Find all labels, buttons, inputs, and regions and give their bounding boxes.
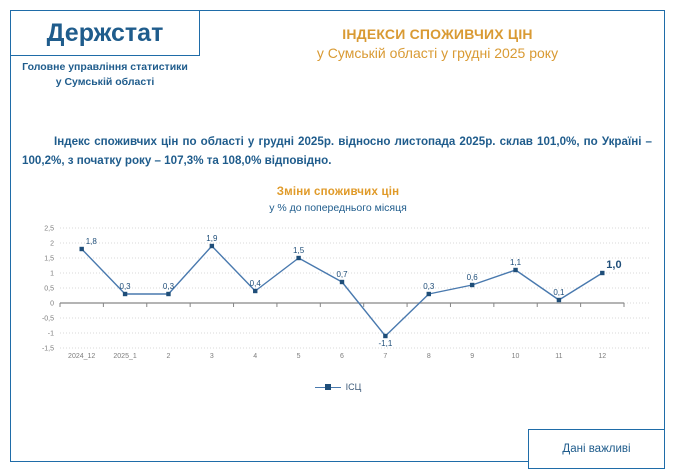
organisation-name-line2: у Сумській області [8,75,202,90]
x-axis-tick-label: 2024_12 [68,353,95,360]
footer-badge[interactable]: Дані важливі [528,429,665,469]
y-axis-tick-label: 2,5 [44,226,54,233]
x-axis-tick-label: 12 [598,353,606,360]
series-line [82,246,603,336]
y-axis-tick-label: -0,5 [42,316,54,323]
y-axis-tick-label: -1,5 [42,346,54,353]
organisation-logo: Держстат [10,10,200,56]
data-point-marker [600,271,604,275]
legend-marker-icon [315,383,341,392]
x-axis-tick-label: 10 [512,353,520,360]
x-axis-tick-label: 8 [427,353,431,360]
chart-plot-area: 2,521,510,50-0,5-1-1,52024_122025_123456… [14,216,662,376]
page-title-sub: у Сумській області у грудні 2025 року [210,45,665,61]
data-point-label: 0,3 [163,282,175,291]
data-point-label: 0,3 [423,282,435,291]
data-point-marker [166,292,170,296]
data-point-marker [253,289,257,293]
data-point-marker [296,256,300,260]
intro-paragraph: Індекс споживчих цін по області у грудні… [22,132,652,170]
data-point-label: 1,0 [606,259,621,271]
data-point-marker [513,268,517,272]
x-axis-tick-label: 2025_1 [113,353,136,360]
x-axis-tick-label: 6 [340,353,344,360]
legend-label: ІСЦ [346,382,362,392]
x-axis-tick-label: 2 [167,353,171,360]
data-point-label: 0,6 [467,273,479,282]
data-point-label: 0,1 [553,288,565,297]
chart-block: Зміни споживчих цін у % до попереднього … [14,186,662,411]
data-point-marker [340,280,344,284]
organisation-name: Головне управління статистики у Сумській… [8,60,202,90]
y-axis-tick-label: 2 [50,241,54,248]
x-axis-tick-label: 7 [383,353,387,360]
y-axis-tick-label: 1,5 [44,256,54,263]
x-axis-tick-label: 9 [470,353,474,360]
data-point-marker [123,292,127,296]
chart-legend[interactable]: ІСЦ [14,382,662,392]
y-axis-tick-label: 0 [50,301,54,308]
page-title: ІНДЕКСИ СПОЖИВЧИХ ЦІН у Сумській області… [210,26,665,61]
data-point-label: 1,5 [293,246,305,255]
data-point-marker [210,244,214,248]
data-point-marker [79,247,83,251]
data-point-label: 1,8 [86,237,98,246]
cpi-line-chart: 2,521,510,50-0,5-1-1,52024_122025_123456… [14,216,662,376]
x-axis-tick-label: 11 [555,353,562,360]
x-axis-tick-label: 3 [210,353,214,360]
footer-badge-label: Дані важливі [562,443,630,455]
data-point-label: 0,7 [336,270,348,279]
data-point-label: 0,3 [120,282,132,291]
chart-subtitle: у % до попереднього місяця [14,202,662,214]
chart-title: Зміни споживчих цін [14,186,662,198]
data-point-label: 0,4 [250,279,262,288]
y-axis-tick-label: -1 [48,331,54,338]
data-point-marker [557,298,561,302]
organisation-name-line1: Головне управління статистики [8,60,202,75]
logo-text: Держстат [47,21,164,46]
data-point-label: 1,9 [206,234,218,243]
x-axis-tick-label: 5 [297,353,301,360]
data-point-marker [383,334,387,338]
data-point-marker [427,292,431,296]
data-point-label: 1,1 [510,258,522,267]
data-point-marker [470,283,474,287]
y-axis-tick-label: 1 [50,271,54,278]
data-point-label: -1,1 [378,339,392,348]
page-title-main: ІНДЕКСИ СПОЖИВЧИХ ЦІН [210,26,665,42]
y-axis-tick-label: 0,5 [44,286,54,293]
x-axis-tick-label: 4 [253,353,257,360]
